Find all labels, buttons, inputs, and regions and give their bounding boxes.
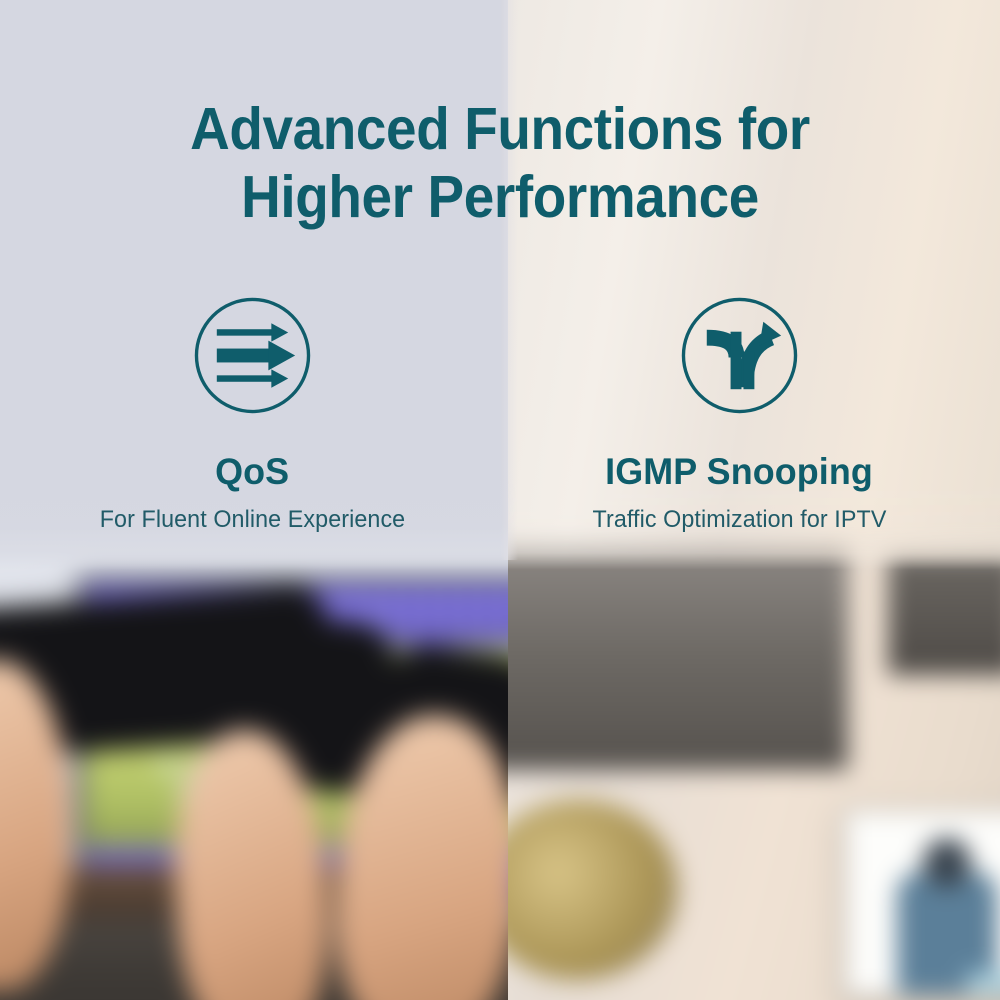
qos-arrows-icon [193, 296, 312, 415]
promo-image: Advanced Functions for Higher Performanc… [0, 0, 1000, 1000]
headline-line-1: Advanced Functions for [35, 95, 965, 163]
feature-subtitle: For Fluent Online Experience [99, 506, 405, 534]
feature-qos: QoS For Fluent Online Experience [2, 296, 502, 534]
headline-line-2: Higher Performance [35, 163, 965, 231]
igmp-forked-road-icon [680, 296, 799, 415]
features-row: QoS For Fluent Online Experience I [0, 296, 1000, 534]
feature-title: IGMP Snooping [605, 451, 873, 493]
headline: Advanced Functions for Higher Performanc… [35, 95, 965, 231]
feature-igmp-snooping: IGMP Snooping Traffic Optimization for I… [489, 296, 989, 534]
feature-title: QoS [215, 451, 289, 493]
feature-subtitle: Traffic Optimization for IPTV [592, 506, 886, 534]
